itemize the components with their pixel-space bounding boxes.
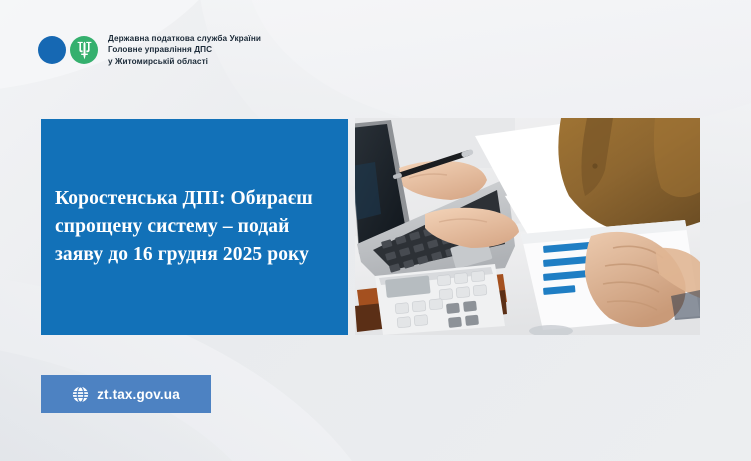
brand-line-3: у Житомирській області	[108, 57, 261, 67]
website-url-badge[interactable]: zt.tax.gov.ua	[41, 375, 211, 413]
brand-line-2: Головне управління ДПС	[108, 45, 261, 55]
banner-canvas: Державна податкова служба України Головн…	[0, 0, 751, 461]
headline-panel: Коростенська ДПІ: Обираєш спрощену систе…	[41, 119, 348, 335]
ukrainian-trident-icon	[70, 36, 98, 64]
globe-icon	[72, 386, 89, 403]
brand-line-1: Державна податкова служба України	[108, 34, 261, 44]
website-url-text: zt.tax.gov.ua	[97, 387, 180, 402]
brand-text: Державна податкова служба України Головн…	[108, 34, 261, 67]
brand-header: Державна податкова служба України Головн…	[38, 34, 261, 67]
logo	[38, 36, 98, 64]
logo-blue-circle-icon	[38, 36, 66, 64]
photo-office-consultation	[355, 118, 700, 335]
page-title: Коростенська ДПІ: Обираєш спрощену систе…	[55, 185, 334, 268]
